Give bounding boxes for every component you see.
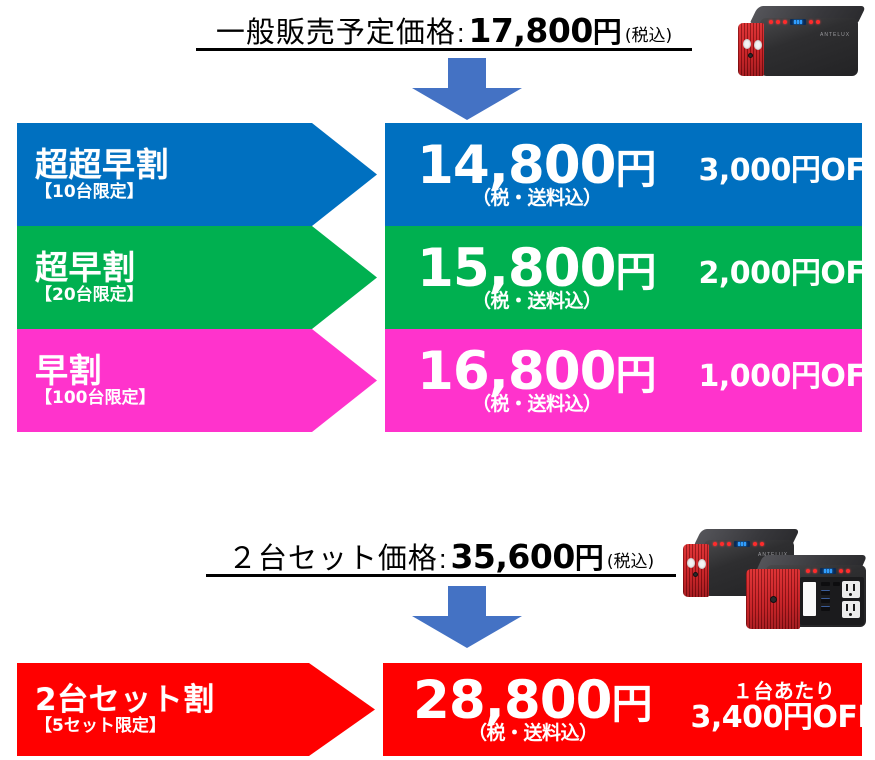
discount-amount: 2,000円OFF (699, 258, 875, 290)
fan-vent-right-icon (698, 559, 706, 569)
discount-group: １台あたり 3,400円OFF (691, 681, 875, 734)
price-tax-shipping-note: （税・送料込） (472, 292, 602, 311)
tier-name: 2台セット割 (35, 684, 305, 716)
price-main-line: 14,800 円 (417, 141, 657, 191)
discount-group: 2,000円OFF (699, 258, 875, 290)
led-light-panel-icon (803, 582, 816, 616)
usb-port-icon (821, 598, 830, 603)
price-group: 28,800 円 （税・送料込） (413, 676, 653, 743)
price-tax-shipping-note: （税・送料込） (468, 724, 598, 743)
led-dot-icon (806, 569, 810, 573)
tier-limit: 【5セット限定】 (35, 717, 305, 736)
led-dot-icon (809, 20, 813, 24)
tier-price-block-2: 16,800 円 （税・送料込） 1,000円OFF (385, 329, 862, 432)
led-dot-icon (713, 542, 717, 546)
fan-vent-right-icon (754, 40, 762, 50)
fan-vent-left-icon (743, 39, 751, 49)
usb-port-icon (821, 606, 830, 611)
tier-limit: 【20台限定】 (35, 286, 307, 305)
header-label: 一般販売予定価格 (216, 18, 456, 47)
price-tax-shipping-note: （税・送料込） (472, 395, 602, 414)
tier-name: 早割 (35, 354, 307, 388)
section-header-single-unit: 一般販売予定価格 : 17,800 円 (税込) (196, 9, 692, 51)
tier-limit: 【100台限定】 (35, 389, 307, 408)
digital-display-icon (790, 19, 806, 25)
tier-limit: 【10台限定】 (35, 183, 307, 202)
usbc-port-icon (833, 582, 840, 586)
tier-name: 超超早割 (35, 148, 307, 182)
product-photo-single: ANTELUX (736, 6, 868, 78)
led-dot-icon (783, 20, 787, 24)
price-yen: 円 (616, 253, 657, 292)
led-dot-icon (846, 569, 850, 573)
section-header-two-unit-set: ２台セット価格 : 35,600 円 (税込) (206, 535, 676, 577)
digital-display-icon (734, 541, 750, 547)
brand-logo: ANTELUX (820, 32, 850, 38)
dc-port-icon (821, 582, 830, 586)
led-dot-icon (813, 569, 817, 573)
price-yen: 円 (616, 150, 657, 189)
led-dot-icon (760, 542, 764, 546)
header-price-yen: 円 (593, 18, 622, 47)
port-panel (800, 577, 864, 625)
header-price-value: 35,600 (450, 540, 574, 573)
led-dot-icon (720, 542, 724, 546)
vent-knob-icon (748, 53, 753, 58)
discount-amount: 3,000円OFF (699, 155, 875, 187)
price-main-line: 16,800 円 (417, 347, 657, 397)
price-yen: 円 (612, 685, 653, 724)
ac-outlet-icon (842, 601, 860, 618)
price-value: 16,800 (417, 347, 616, 397)
discount-amount: 1,000円OFF (699, 361, 875, 393)
header-tax-note: (税込) (604, 554, 654, 573)
discount-group: 3,000円OFF (699, 155, 875, 187)
usb-port-icon (821, 590, 830, 595)
price-tax-shipping-note: （税・送料込） (472, 189, 602, 208)
price-main-line: 28,800 円 (413, 676, 653, 726)
tier-name: 超早割 (35, 251, 307, 285)
tier-label-block-2: 早割 【100台限定】 (17, 329, 307, 432)
discount-prefix: １台あたり (733, 681, 836, 702)
down-arrow-icon-pair (412, 586, 522, 648)
led-dot-icon (727, 542, 731, 546)
unit-red-side-panel (738, 23, 764, 76)
product-photo-pair: ANTELUX (682, 527, 870, 641)
tier-label-block-0: 超超早割 【10台限定】 (17, 123, 307, 226)
price-value: 14,800 (417, 141, 616, 191)
price-value: 15,800 (417, 244, 616, 294)
unit-front (746, 555, 870, 639)
price-yen: 円 (616, 356, 657, 395)
header-tax-note: (税込) (622, 28, 672, 47)
discount-amount: 3,400円OFF (691, 702, 875, 734)
ac-outlet-icon (842, 581, 860, 598)
price-main-line: 15,800 円 (417, 244, 657, 294)
tier-price-block-0: 14,800 円 （税・送料込） 3,000円OFF (385, 123, 862, 226)
led-indicator-strip (806, 568, 850, 574)
header-label: ２台セット価格 (228, 544, 438, 573)
tier-label-block-1: 超早割 【20台限定】 (17, 226, 307, 329)
header-price-yen: 円 (575, 544, 604, 573)
price-value: 28,800 (413, 676, 612, 726)
price-group: 15,800 円 （税・送料込） (417, 244, 657, 311)
led-dot-icon (776, 20, 780, 24)
header-price-value: 17,800 (468, 14, 592, 47)
digital-display-icon (820, 568, 836, 574)
price-group: 14,800 円 （税・送料込） (417, 141, 657, 208)
header-colon: : (438, 546, 451, 573)
fan-vent-left-icon (687, 558, 695, 568)
led-indicator-strip (713, 541, 764, 547)
led-dot-icon (769, 20, 773, 24)
price-group: 16,800 円 （税・送料込） (417, 347, 657, 414)
down-arrow-icon-single (412, 58, 522, 120)
led-dot-icon (839, 569, 843, 573)
unit-red-side-panel (683, 544, 709, 597)
tier-price-block-set: 28,800 円 （税・送料込） １台あたり 3,400円OFF (383, 663, 862, 756)
led-indicator-strip (769, 19, 820, 25)
unit-body (760, 18, 858, 76)
led-dot-icon (753, 542, 757, 546)
tier-price-block-1: 15,800 円 （税・送料込） 2,000円OFF (385, 226, 862, 329)
vent-knob-icon (770, 596, 777, 603)
header-colon: : (456, 20, 469, 47)
tier-label-block-set: 2台セット割 【5セット限定】 (17, 663, 305, 756)
vent-knob-icon (693, 572, 698, 577)
discount-group: 1,000円OFF (699, 361, 875, 393)
led-dot-icon (816, 20, 820, 24)
